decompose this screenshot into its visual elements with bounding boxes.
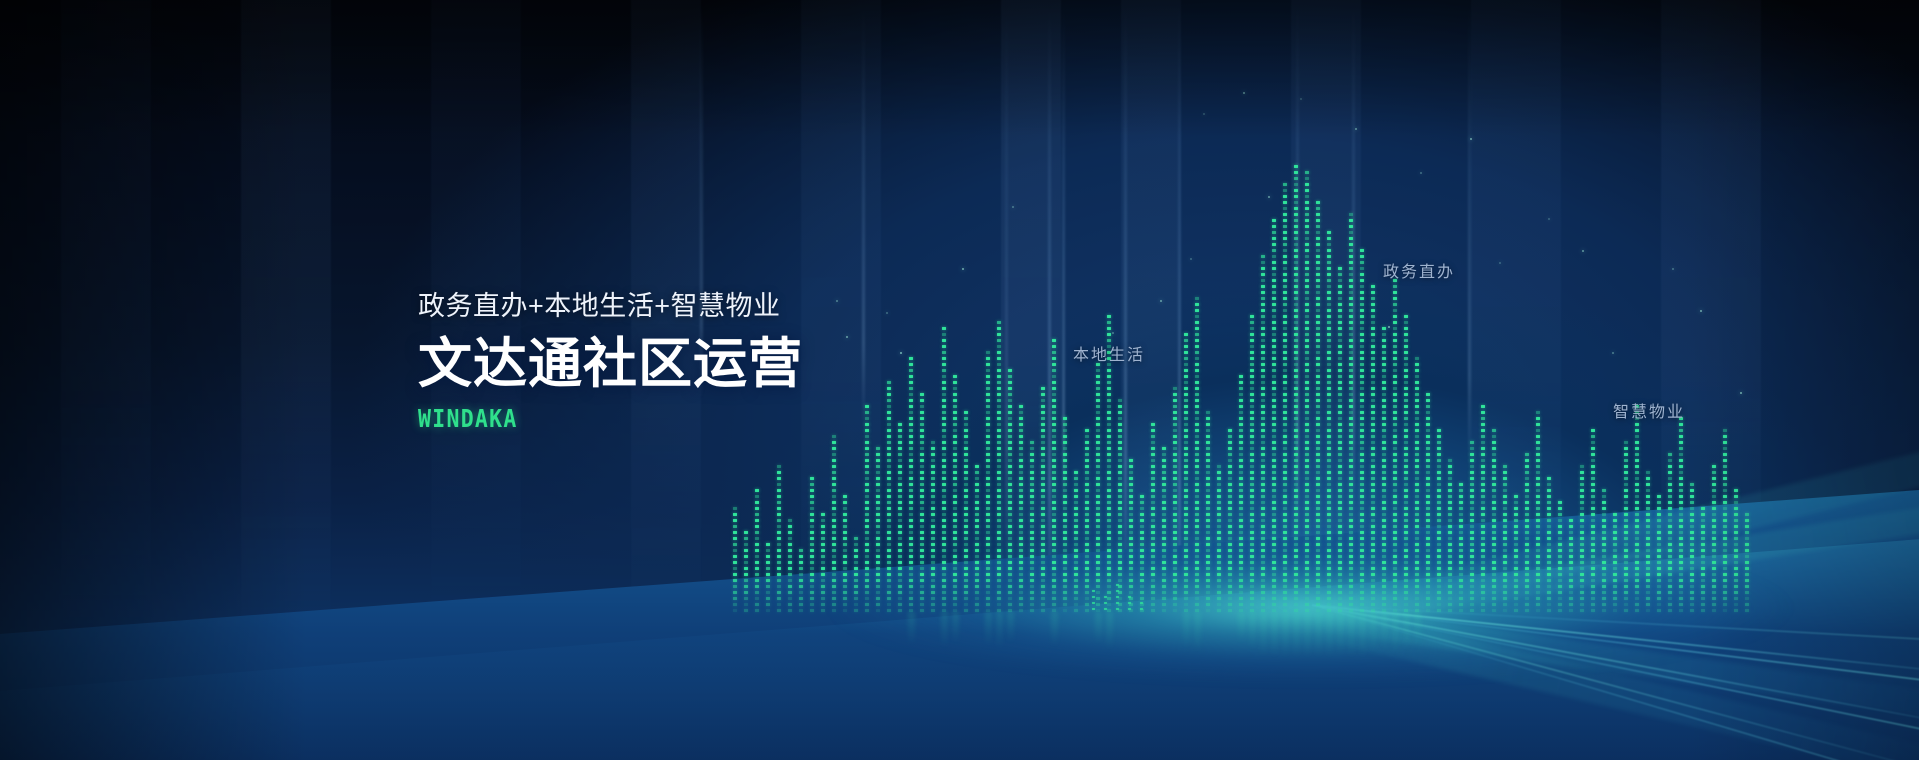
bar-dot: [1283, 429, 1287, 432]
bar-dot: [1129, 501, 1133, 504]
bar-dot: [1668, 603, 1672, 606]
bar-dot: [1272, 243, 1276, 246]
bar-dot: [1360, 339, 1364, 342]
bar-dot: [1734, 501, 1738, 504]
bar-dot: [1701, 525, 1705, 528]
bar-dot: [1536, 597, 1540, 600]
bar-dot: [931, 477, 935, 480]
bar-dot: [920, 483, 924, 486]
bar-dot: [1195, 399, 1199, 402]
bar-dot: [1415, 381, 1419, 384]
bar-dot: [986, 531, 990, 534]
bar-dot: [1250, 501, 1254, 504]
bar-dot: [1239, 417, 1243, 420]
bar-dot: [843, 537, 847, 540]
bar-dot: [1195, 555, 1199, 558]
bar-dot: [920, 519, 924, 522]
bar-dot: [1371, 441, 1375, 444]
bar-dot: [1283, 471, 1287, 474]
bar-dot: [810, 585, 814, 588]
bar-dot: [1426, 435, 1430, 438]
bar-dot: [1107, 489, 1111, 492]
bar-dot: [733, 555, 737, 558]
bar-dot: [1327, 381, 1331, 384]
bar-dot: [986, 501, 990, 504]
bar-dot: [1283, 537, 1287, 540]
bar-dot: [1085, 525, 1089, 528]
bar-dot: [1481, 435, 1485, 438]
bar-dot: [1162, 447, 1166, 450]
bar-dot: [1294, 417, 1298, 420]
bar-dot: [1239, 513, 1243, 516]
bar-dot: [1272, 273, 1276, 276]
bar-dot: [755, 537, 759, 540]
bar-dot: [1569, 603, 1573, 606]
bar-dot: [1338, 345, 1342, 348]
bar-dot: [1283, 591, 1287, 594]
bar-dot: [1283, 303, 1287, 306]
bar-dot: [1723, 525, 1727, 528]
bar-dot: [1008, 591, 1012, 594]
bar-dot: [1239, 393, 1243, 396]
bar-dot: [1217, 549, 1221, 552]
bar-dot: [1492, 483, 1496, 486]
bar-dot: [1349, 489, 1353, 492]
bar-dot: [1580, 501, 1584, 504]
bar-dot: [1019, 477, 1023, 480]
bar-dot: [876, 609, 880, 612]
bar-dot: [1294, 309, 1298, 312]
bar-dot: [1404, 321, 1408, 324]
bar-dot: [1316, 519, 1320, 522]
bar-dot: [1426, 417, 1430, 420]
bar-dot: [1316, 201, 1320, 204]
bar-dot: [1657, 579, 1661, 582]
bar-dot: [1723, 549, 1727, 552]
bar-dot: [1580, 483, 1584, 486]
bar-dot: [1646, 483, 1650, 486]
bar-dot: [986, 483, 990, 486]
bar-dot: [1261, 315, 1265, 318]
bar-column: [1272, 212, 1277, 612]
bar-dot: [1041, 597, 1045, 600]
bar-dot: [1404, 489, 1408, 492]
bar-dot: [1096, 435, 1100, 438]
bar-dot: [986, 447, 990, 450]
bar-dot: [1239, 435, 1243, 438]
bar-dot: [1393, 429, 1397, 432]
bar-dot: [1272, 561, 1276, 564]
bar-dot: [876, 555, 880, 558]
bar-dot: [1613, 591, 1617, 594]
bar-dot: [1349, 279, 1353, 282]
bar-dot: [1305, 477, 1309, 480]
bar-dot: [1393, 363, 1397, 366]
bar-dot: [1481, 465, 1485, 468]
bar-dot: [1338, 561, 1342, 564]
bar-dot: [1580, 585, 1584, 588]
bar-dot: [920, 609, 924, 612]
bar-dot: [1272, 249, 1276, 252]
bar-dot: [1624, 465, 1628, 468]
bar-dot: [1316, 357, 1320, 360]
bar-dot: [1503, 579, 1507, 582]
bar-dot: [1415, 579, 1419, 582]
bar-column: [1448, 454, 1453, 612]
bar-dot: [1327, 591, 1331, 594]
bar-dot: [1019, 609, 1023, 612]
bar-dot: [1404, 405, 1408, 408]
bar-dot: [1283, 213, 1287, 216]
bar-dot: [1085, 513, 1089, 516]
bar-dot: [1591, 603, 1595, 606]
bar-dot: [953, 531, 957, 534]
bar-dot: [744, 567, 748, 570]
bar-dot: [1481, 453, 1485, 456]
bar-dot: [1063, 597, 1067, 600]
bar-dot: [1602, 531, 1606, 534]
bar-dot: [953, 537, 957, 540]
bar-dot: [1349, 447, 1353, 450]
bar-dot: [1657, 591, 1661, 594]
bar-dot: [1294, 177, 1298, 180]
bar-dot: [1624, 459, 1628, 462]
bar-dot: [1217, 465, 1221, 468]
bar-dot: [1371, 435, 1375, 438]
bar-dot: [986, 591, 990, 594]
bar-dot: [1613, 573, 1617, 576]
bar-dot: [1206, 423, 1210, 426]
bar-dot: [997, 489, 1001, 492]
bar-dot: [1382, 603, 1386, 606]
bar-dot: [1305, 243, 1309, 246]
bar-column: [898, 416, 903, 612]
bar-dot: [920, 537, 924, 540]
bar-dot: [1437, 489, 1441, 492]
bar-dot: [755, 543, 759, 546]
bar-dot: [1701, 537, 1705, 540]
bar-dot: [1030, 579, 1034, 582]
bar-dot: [1129, 573, 1133, 576]
bar-dot: [1228, 447, 1232, 450]
sparkle-dot: [1012, 206, 1014, 208]
bar-dot: [1580, 591, 1584, 594]
bar-dot: [1107, 585, 1111, 588]
bar-dot: [887, 447, 891, 450]
bar-dot: [1019, 573, 1023, 576]
bar-dot: [1371, 393, 1375, 396]
bar-dot: [810, 477, 814, 480]
bar-dot: [1448, 597, 1452, 600]
bar-dot: [909, 549, 913, 552]
bar-dot: [1690, 513, 1694, 516]
bar-dot: [1558, 585, 1562, 588]
bar-dot: [1140, 561, 1144, 564]
bar-dot: [1151, 441, 1155, 444]
bar-dot: [986, 579, 990, 582]
bar-dot: [1679, 477, 1683, 480]
bar-dot: [1151, 585, 1155, 588]
bar-dot: [876, 471, 880, 474]
bar-dot: [1338, 597, 1342, 600]
bar-dot: [1239, 495, 1243, 498]
bar-dot: [1679, 447, 1683, 450]
bar-dot: [832, 501, 836, 504]
bar-dot: [1107, 495, 1111, 498]
bar-dot: [1316, 255, 1320, 258]
bar-dot: [1349, 531, 1353, 534]
bar-dot: [1624, 477, 1628, 480]
bar-dot: [1239, 603, 1243, 606]
bar-dot: [1437, 471, 1441, 474]
bar-dot: [909, 489, 913, 492]
bar-dot: [909, 585, 913, 588]
bar-dot: [942, 543, 946, 546]
bar-dot: [1668, 471, 1672, 474]
bar-dot: [1294, 543, 1298, 546]
bar-dot: [1305, 447, 1309, 450]
bar-dot: [1492, 609, 1496, 612]
bar-dot: [1327, 339, 1331, 342]
bar-dot: [1283, 351, 1287, 354]
bar-dot: [1316, 471, 1320, 474]
bar-dot: [1228, 531, 1232, 534]
bar-dot: [964, 453, 968, 456]
bar-dot: [766, 597, 770, 600]
bar-dot: [964, 525, 968, 528]
bar-dot: [1173, 477, 1177, 480]
bar-dot: [1437, 477, 1441, 480]
bar-dot: [898, 531, 902, 534]
bar-dot: [975, 603, 979, 606]
bar-dot: [1613, 549, 1617, 552]
bar-dot: [1250, 333, 1254, 336]
bar-dot: [1239, 399, 1243, 402]
bar-dot: [1261, 471, 1265, 474]
bar-dot: [1481, 561, 1485, 564]
bar-dot: [1041, 537, 1045, 540]
bar-dot: [1360, 363, 1364, 366]
bar-dot: [1294, 399, 1298, 402]
bar-column: [1668, 448, 1673, 612]
bar-dot: [1448, 471, 1452, 474]
bar-dot: [1294, 291, 1298, 294]
bar-dot: [832, 579, 836, 582]
bar-dot: [1283, 255, 1287, 258]
bar-dot: [1470, 597, 1474, 600]
bar-dot: [1294, 303, 1298, 306]
bar-dot: [1591, 561, 1595, 564]
bar-dot: [1580, 531, 1584, 534]
bar-dot: [1360, 279, 1364, 282]
bar-dot: [1536, 429, 1540, 432]
bar-dot: [733, 579, 737, 582]
bar-dot: [1415, 531, 1419, 534]
sparkle-dot: [1700, 310, 1702, 312]
bar-dot: [1272, 231, 1276, 234]
bar-dot: [1184, 417, 1188, 420]
brand-wordmark: WINDAKA: [418, 404, 1072, 433]
bar-dot: [755, 501, 759, 504]
bar-reflection: [1183, 612, 1190, 648]
bar-reflection: [1403, 612, 1410, 650]
bar-dot: [1536, 477, 1540, 480]
bar-dot: [1316, 303, 1320, 306]
bar-dot: [1591, 591, 1595, 594]
bar-dot: [1019, 507, 1023, 510]
bar-dot: [1283, 489, 1287, 492]
bar-dot: [1569, 537, 1573, 540]
bar-dot: [1547, 543, 1551, 546]
bar-dot: [1569, 597, 1573, 600]
bar-dot: [1316, 525, 1320, 528]
bar-dot: [1261, 291, 1265, 294]
bar-dot: [1305, 501, 1309, 504]
bar-dot: [1393, 579, 1397, 582]
bar-dot: [1107, 513, 1111, 516]
bar-dot: [1074, 477, 1078, 480]
bar-dot: [854, 609, 858, 612]
bar-dot: [1646, 501, 1650, 504]
bar-dot: [1404, 555, 1408, 558]
bar-dot: [1250, 531, 1254, 534]
bar-dot: [1096, 537, 1100, 540]
bar-dot: [1305, 189, 1309, 192]
bar-dot: [1316, 207, 1320, 210]
bar-dot: [1382, 501, 1386, 504]
bar-dot: [1294, 273, 1298, 276]
bar-dot: [1327, 429, 1331, 432]
bar-dot: [1679, 603, 1683, 606]
bar-dot: [1151, 495, 1155, 498]
bar-dot: [1360, 393, 1364, 396]
bar-dot: [1305, 231, 1309, 234]
bar-dot: [1272, 465, 1276, 468]
bar-dot: [1602, 489, 1606, 492]
bar-dot: [1371, 459, 1375, 462]
bar-dot: [1107, 501, 1111, 504]
sparkle-dot: [1548, 218, 1550, 220]
bar-dot: [1305, 555, 1309, 558]
bar-dot: [1712, 537, 1716, 540]
bar-dot: [1239, 375, 1243, 378]
bar-dot: [1041, 585, 1045, 588]
bar-dot: [1261, 369, 1265, 372]
bar-dot: [1206, 429, 1210, 432]
bar-dot: [1272, 579, 1276, 582]
bar-dot: [1096, 501, 1100, 504]
bar-dot: [1272, 291, 1276, 294]
bar-dot: [832, 441, 836, 444]
bar-dot: [1118, 525, 1122, 528]
bar-dot: [1019, 525, 1023, 528]
bar-dot: [744, 555, 748, 558]
bar-dot: [799, 555, 803, 558]
bar-dot: [777, 519, 781, 522]
bar-dot: [1052, 567, 1056, 570]
bar-dot: [1360, 555, 1364, 558]
bar-dot: [1063, 579, 1067, 582]
bar-dot: [1151, 609, 1155, 612]
bar-dot: [975, 597, 979, 600]
bar-dot: [942, 555, 946, 558]
bar-dot: [986, 453, 990, 456]
bar-dot: [1679, 531, 1683, 534]
bar-dot: [1415, 363, 1419, 366]
bar-dot: [1668, 495, 1672, 498]
bar-dot: [1338, 483, 1342, 486]
bar-dot: [887, 465, 891, 468]
bar-dot: [1305, 537, 1309, 540]
bar-dot: [1294, 387, 1298, 390]
bar-dot: [997, 465, 1001, 468]
bar-dot: [876, 585, 880, 588]
bar-dot: [1129, 483, 1133, 486]
bar-dot: [1646, 603, 1650, 606]
bar-dot: [1041, 435, 1045, 438]
bar-dot: [920, 597, 924, 600]
bar-dot: [1657, 531, 1661, 534]
bar-dot: [964, 579, 968, 582]
bar-dot: [1558, 567, 1562, 570]
bar-dot: [1206, 549, 1210, 552]
bar-dot: [1316, 261, 1320, 264]
bar-dot: [1074, 525, 1078, 528]
bar-dot: [1679, 567, 1683, 570]
bar-dot: [1635, 519, 1639, 522]
bar-dot: [1360, 423, 1364, 426]
bar-dot: [1261, 465, 1265, 468]
bar-dot: [1074, 549, 1078, 552]
bar-dot: [1030, 447, 1034, 450]
bar-dot: [1327, 399, 1331, 402]
bar-dot: [1646, 567, 1650, 570]
bar-dot: [876, 477, 880, 480]
bar-dot: [1261, 531, 1265, 534]
bar-dot: [1470, 609, 1474, 612]
bar-dot: [898, 585, 902, 588]
bar-dot: [1327, 327, 1331, 330]
bar-dot: [1393, 423, 1397, 426]
bar-dot: [821, 603, 825, 606]
bar-dot: [1206, 519, 1210, 522]
bar-dot: [1426, 471, 1430, 474]
bar-dot: [1382, 429, 1386, 432]
bar-dot: [1283, 315, 1287, 318]
bar-dot: [854, 537, 858, 540]
bar-dot: [1404, 357, 1408, 360]
bar-dot: [1250, 525, 1254, 528]
bar-dot: [1404, 537, 1408, 540]
bar-dot: [1305, 273, 1309, 276]
bar-dot: [1536, 591, 1540, 594]
bar-dot: [1470, 483, 1474, 486]
bar-dot: [1492, 567, 1496, 570]
bar-dot: [1690, 489, 1694, 492]
bar-dot: [1085, 579, 1089, 582]
bar-dot: [1701, 531, 1705, 534]
bar-reflection: [1359, 612, 1366, 658]
bar-dot: [1602, 585, 1606, 588]
bar-dot: [788, 609, 792, 612]
bar-dot: [1261, 549, 1265, 552]
bar-dot: [1239, 573, 1243, 576]
bar-dot: [1569, 567, 1573, 570]
bar-dot: [1690, 483, 1694, 486]
bar-dot: [1602, 573, 1606, 576]
bar-dot: [1173, 531, 1177, 534]
bar-dot: [1382, 465, 1386, 468]
